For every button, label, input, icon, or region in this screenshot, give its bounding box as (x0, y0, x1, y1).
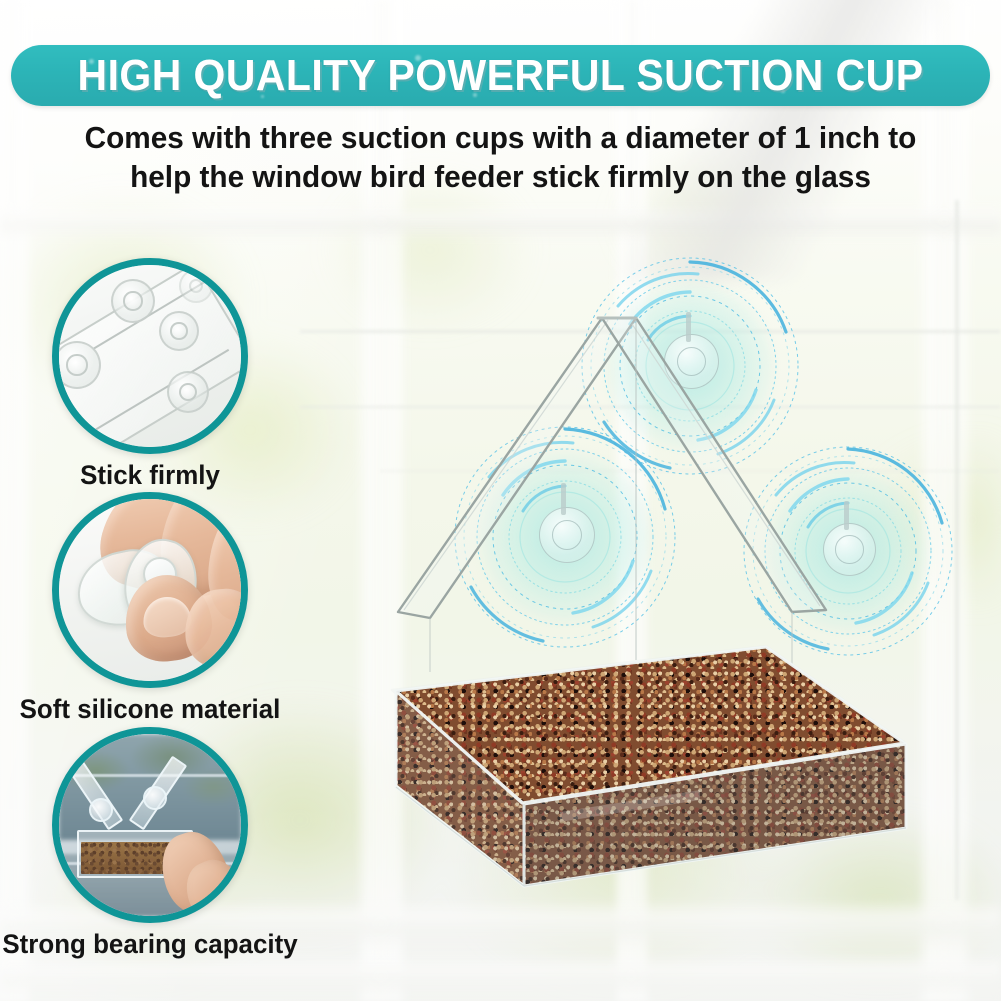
feature-callout-soft-silicone: Soft silicone material (52, 492, 248, 688)
feature-caption-stick-firmly: Stick firmly (80, 460, 220, 491)
feature-callout-strong-bearing: Strong bearing capacity (52, 727, 248, 923)
feature-image-strong-bearing (52, 727, 248, 923)
feature-caption-soft-silicone: Soft silicone material (20, 694, 281, 725)
feature-image-stick-firmly (52, 258, 248, 454)
product-marketing-image: HIGH QUALITY POWERFUL SUCTION CUP Comes … (0, 0, 1001, 1001)
feature-image-soft-silicone (52, 492, 248, 688)
subtitle-text: Comes with three suction cups with a dia… (68, 118, 933, 196)
headline-banner: HIGH QUALITY POWERFUL SUCTION CUP (11, 45, 990, 106)
feature-caption-strong-bearing: Strong bearing capacity (2, 929, 297, 960)
subtitle-line-1: Comes with three suction cups with a dia… (68, 118, 933, 157)
headline-text: HIGH QUALITY POWERFUL SUCTION CUP (45, 45, 955, 106)
feature-callout-stick-firmly: Stick firmly (52, 258, 248, 454)
subtitle-line-2: help the window bird feeder stick firmly… (68, 157, 933, 196)
